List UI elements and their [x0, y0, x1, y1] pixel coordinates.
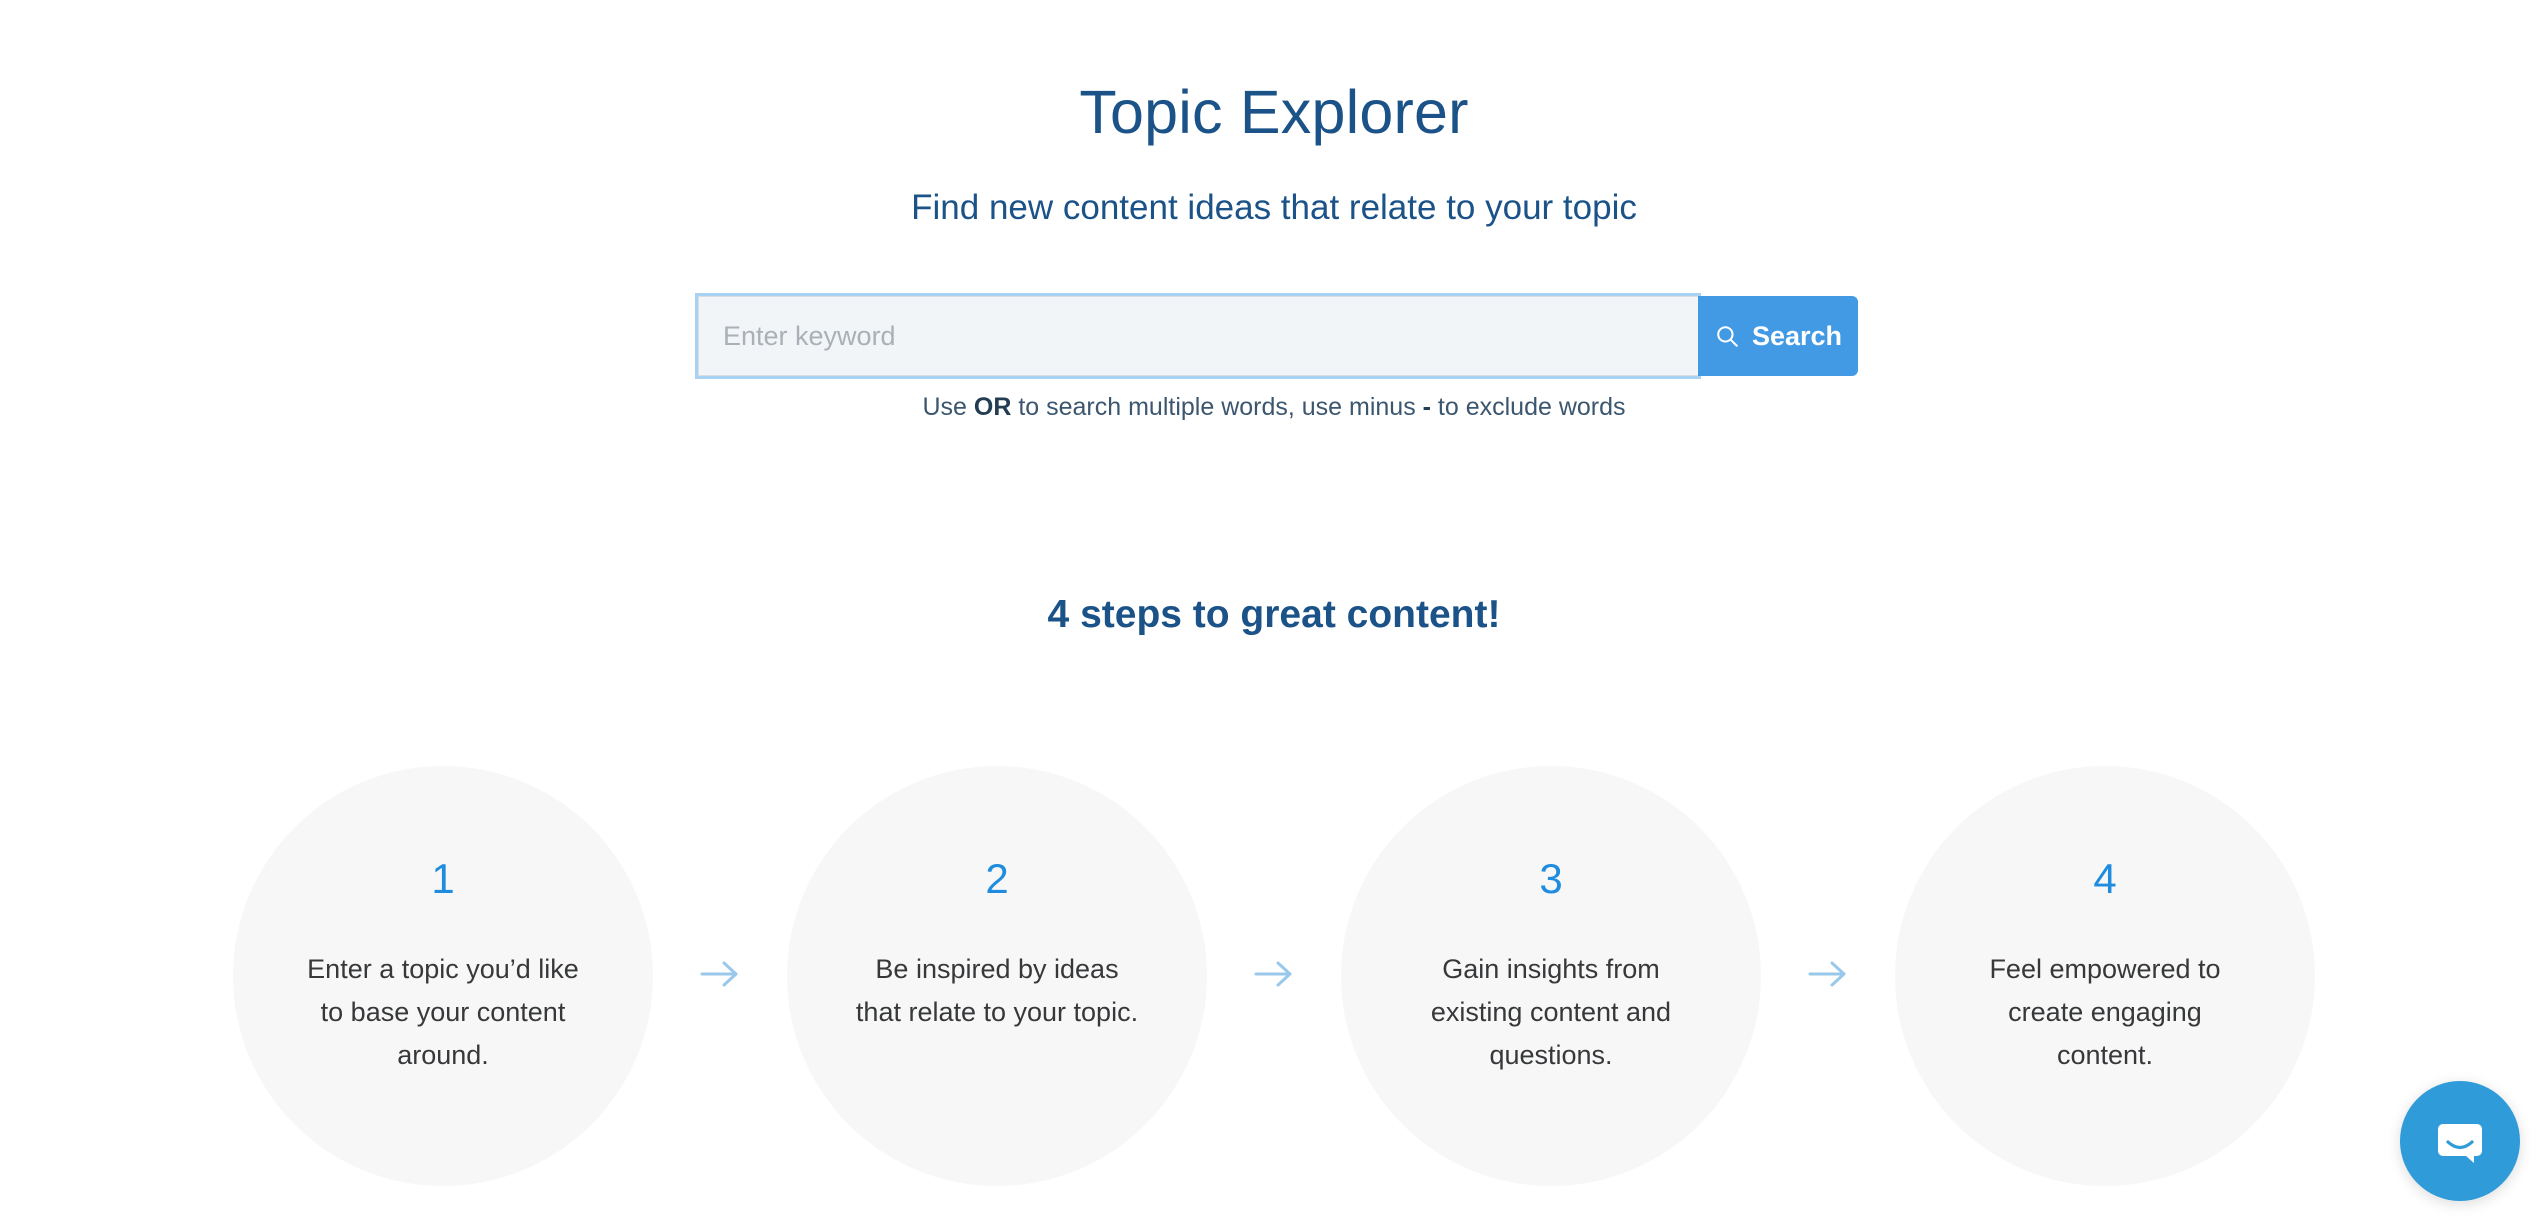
step-circle-3: 3 Gain insights from existing content an…: [1341, 766, 1761, 1186]
step-circle-1: 1 Enter a topic you’d like to base your …: [233, 766, 653, 1186]
step-text: Be inspired by ideas that relate to your…: [852, 948, 1142, 1034]
search-input-container[interactable]: [698, 296, 1698, 376]
steps-heading: 4 steps to great content!: [0, 595, 2548, 634]
step-text: Feel empowered to create engaging conten…: [1960, 948, 2250, 1078]
arrow-right-icon: [698, 957, 742, 996]
arrow-right-icon: [1806, 957, 1850, 996]
search-icon: [1714, 323, 1740, 349]
search-hint-middle: to search multiple words, use minus: [1011, 393, 1422, 421]
steps-row: 1 Enter a topic you’d like to base your …: [0, 766, 2548, 1196]
search-hint-minus: -: [1423, 393, 1431, 421]
step-arrow-1: [653, 766, 787, 1186]
step-arrow-3: [1761, 766, 1895, 1186]
page-subtitle: Find new content ideas that relate to yo…: [0, 190, 2548, 225]
chat-launcher-button[interactable]: [2400, 1081, 2520, 1201]
search-hint-prefix: Use: [922, 393, 973, 421]
search-button-label: Search: [1752, 321, 1842, 352]
step-circle-4: 4 Feel empowered to create engaging cont…: [1895, 766, 2315, 1186]
step-number: 4: [2093, 858, 2116, 900]
step-text: Gain insights from existing content and …: [1406, 948, 1696, 1078]
search-bar: Search: [698, 296, 1858, 376]
step-arrow-2: [1207, 766, 1341, 1186]
topic-explorer-page: Topic Explorer Find new content ideas th…: [0, 0, 2548, 1216]
step-number: 1: [431, 858, 454, 900]
search-button[interactable]: Search: [1698, 296, 1858, 376]
page-title: Topic Explorer: [0, 82, 2548, 143]
step-text: Enter a topic you’d like to base your co…: [298, 948, 588, 1078]
search-hint-operator: OR: [974, 393, 1012, 421]
arrow-right-icon: [1252, 957, 1296, 996]
search-hint-suffix: to exclude words: [1431, 393, 1626, 421]
step-number: 2: [985, 858, 1008, 900]
step-number: 3: [1539, 858, 1562, 900]
step-circle-2: 2 Be inspired by ideas that relate to yo…: [787, 766, 1207, 1186]
search-input[interactable]: [723, 310, 1698, 362]
chat-bubble-icon: [2431, 1110, 2489, 1173]
search-hint: Use OR to search multiple words, use min…: [0, 395, 2548, 420]
